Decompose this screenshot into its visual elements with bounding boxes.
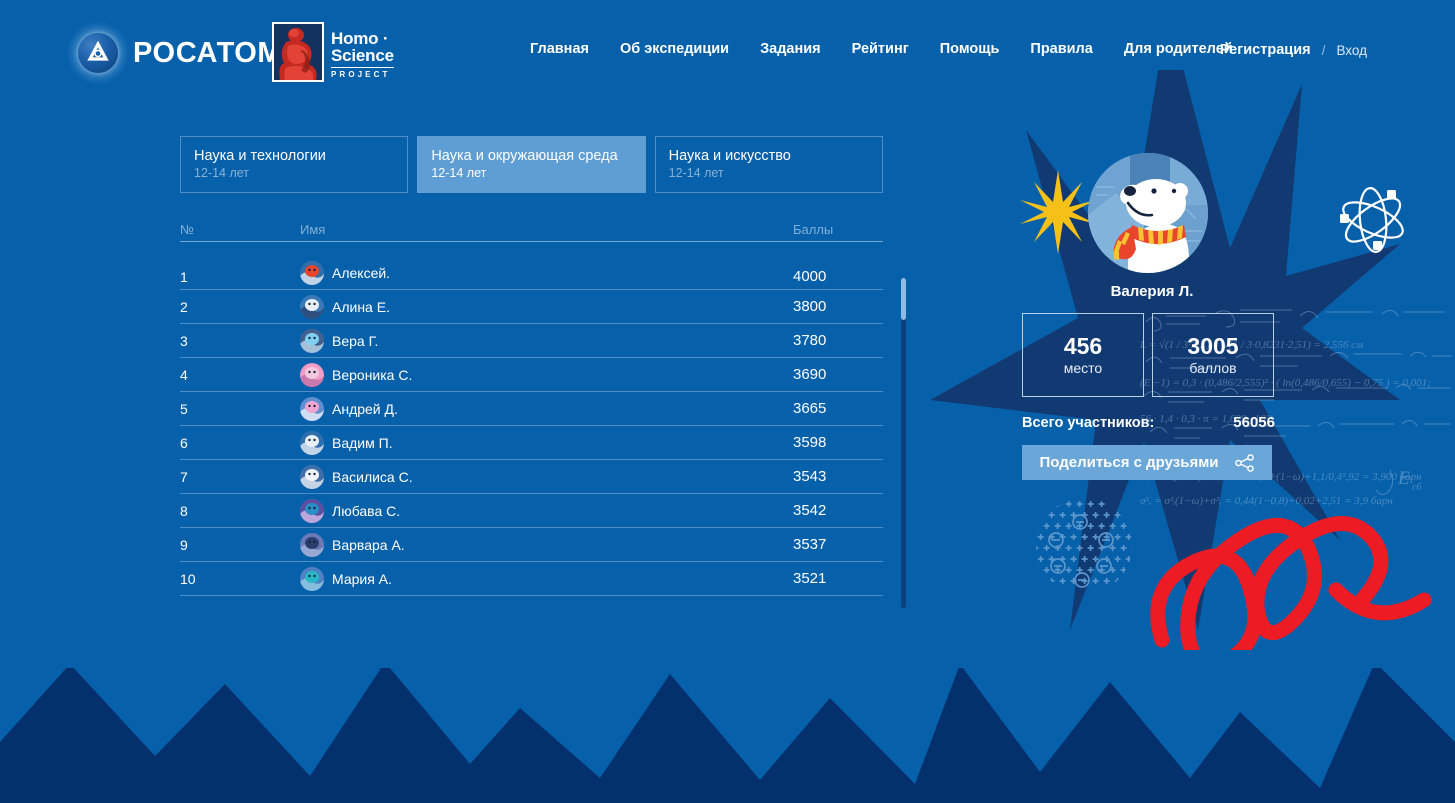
nav-item-parents[interactable]: Для родителей — [1124, 41, 1233, 57]
row-rank: 1 — [180, 269, 300, 285]
user-avatar-icon — [300, 329, 324, 353]
row-rank: 2 — [180, 299, 300, 315]
table-header-row: № Имя Баллы — [180, 218, 883, 242]
row-score: 4000 — [793, 268, 883, 285]
nav-item-rules[interactable]: Правила — [1030, 41, 1092, 57]
column-header-score: Баллы — [793, 222, 883, 237]
row-score: 3521 — [793, 570, 883, 587]
row-rank: 5 — [180, 401, 300, 417]
stat-rank: 456 место — [1022, 313, 1144, 397]
auth-links: Регистрация / Вход — [1220, 42, 1367, 58]
column-header-rank: № — [180, 222, 300, 237]
row-score: 3598 — [793, 434, 883, 451]
row-score: 3665 — [793, 400, 883, 417]
svg-text:сб: сб — [1412, 482, 1422, 493]
rosatom-wordmark: РОСАТОМ — [133, 37, 282, 70]
auth-separator: / — [1322, 42, 1326, 58]
row-user-name: Мария А. — [332, 571, 392, 587]
row-rank: 10 — [180, 571, 300, 587]
row-user-name: Алина Е. — [332, 299, 390, 315]
user-avatar-icon — [300, 397, 324, 421]
row-rank: 8 — [180, 503, 300, 519]
page-root: L = √(1 / 3·Z·Σ) = √(1 / 3·0,8231·2,51) … — [0, 0, 1455, 803]
nav-item-expedition[interactable]: Об экспедиции — [620, 41, 729, 57]
row-score: 3537 — [793, 536, 883, 553]
table-row[interactable]: 2Алина Е.3800 — [180, 290, 883, 324]
row-score: 3690 — [793, 366, 883, 383]
tab-title: Наука и окружающая среда — [431, 147, 644, 165]
tab-title: Наука и технологии — [194, 147, 407, 165]
table-row[interactable]: 10Мария А.3521 — [180, 562, 883, 596]
row-name-cell: Вера Г. — [300, 329, 793, 353]
row-user-name: Любава С. — [332, 503, 400, 519]
row-rank: 9 — [180, 537, 300, 553]
table-row[interactable]: 9Варвара А.3537 — [180, 528, 883, 562]
homo-line-2: Science — [331, 47, 394, 64]
table-row[interactable]: 3Вера Г.3780 — [180, 324, 883, 358]
row-user-name: Андрей Д. — [332, 401, 398, 417]
stat-points: 3005 баллов — [1152, 313, 1274, 397]
category-tabs: Наука и технологии 12-14 лет Наука и окр… — [180, 136, 883, 193]
row-user-name: Василиса С. — [332, 469, 413, 485]
table-row[interactable]: 1Алексей.4000 — [180, 242, 883, 290]
user-avatar-icon — [300, 363, 324, 387]
tab-age-range: 12-14 лет — [669, 165, 882, 182]
login-link[interactable]: Вход — [1336, 43, 1367, 58]
row-score: 3780 — [793, 332, 883, 349]
svg-text:E: E — [1397, 468, 1410, 489]
row-name-cell: Вадим П. — [300, 431, 793, 455]
tab-age-range: 12-14 лет — [431, 165, 644, 182]
rosatom-trefoil-icon — [86, 41, 110, 65]
user-avatar-icon — [300, 261, 324, 285]
row-name-cell: Алина Е. — [300, 295, 793, 319]
column-header-name: Имя — [300, 222, 793, 237]
total-participants-value: 56056 — [1233, 414, 1275, 431]
row-score: 3543 — [793, 468, 883, 485]
share-icon — [1235, 454, 1255, 472]
row-name-cell: Любава С. — [300, 499, 793, 523]
row-rank: 4 — [180, 367, 300, 383]
homo-science-logo[interactable]: Homo · Science PROJECT — [272, 22, 382, 86]
tab-science-and-technology[interactable]: Наука и технологии 12-14 лет — [180, 136, 408, 193]
nav-item-help[interactable]: Помощь — [940, 41, 1000, 57]
row-name-cell: Андрей Д. — [300, 397, 793, 421]
row-name-cell: Вероника С. — [300, 363, 793, 387]
total-participants-row: Всего участников: 56056 — [1022, 414, 1275, 431]
user-avatar-icon — [300, 567, 324, 591]
user-avatar-icon — [300, 499, 324, 523]
table-row[interactable]: 5Андрей Д.3665 — [180, 392, 883, 426]
stat-rank-label: место — [1064, 359, 1102, 377]
table-row[interactable]: 6Вадим П.3598 — [180, 426, 883, 460]
row-rank: 7 — [180, 469, 300, 485]
mountain-silhouette-decoration — [0, 668, 1455, 803]
user-avatar-icon — [300, 295, 324, 319]
site-header: РОСАТОМ — [0, 0, 1455, 105]
share-with-friends-button[interactable]: Поделиться с друзьями — [1022, 445, 1272, 480]
row-name-cell: Василиса С. — [300, 465, 793, 489]
homo-divider — [331, 67, 394, 68]
table-row[interactable]: 8Любава С.3542 — [180, 494, 883, 528]
homo-science-wordmark: Homo · Science PROJECT — [331, 22, 394, 86]
row-name-cell: Алексей. — [300, 261, 793, 285]
nav-item-tasks[interactable]: Задания — [760, 41, 821, 57]
table-row[interactable]: 7Василиса С.3543 — [180, 460, 883, 494]
stat-rank-value: 456 — [1064, 333, 1102, 359]
thinker-statue-icon — [272, 22, 324, 82]
homo-line-3: PROJECT — [331, 70, 394, 79]
profile-stats: 456 место 3005 баллов — [1022, 313, 1282, 397]
row-user-name: Вадим П. — [332, 435, 393, 451]
plasma-dots-icon — [1022, 496, 1147, 596]
row-score: 3800 — [793, 298, 883, 315]
row-rank: 3 — [180, 333, 300, 349]
nav-item-home[interactable]: Главная — [530, 41, 589, 57]
leaderboard-section: Наука и технологии 12-14 лет Наука и окр… — [180, 136, 883, 596]
rosatom-logo-mark — [72, 27, 124, 79]
row-user-name: Вероника С. — [332, 367, 412, 383]
user-avatar-icon — [300, 431, 324, 455]
nav-item-rating[interactable]: Рейтинг — [852, 41, 909, 57]
row-name-cell: Варвара А. — [300, 533, 793, 557]
register-link[interactable]: Регистрация — [1220, 42, 1311, 58]
tab-science-and-art[interactable]: Наука и искусство 12-14 лет — [655, 136, 883, 193]
row-name-cell: Мария А. — [300, 567, 793, 591]
user-avatar-icon — [300, 533, 324, 557]
rosatom-logo[interactable]: РОСАТОМ — [72, 24, 252, 82]
user-profile-panel: Валерия Л. 456 место 3005 баллов Всего у… — [1022, 283, 1282, 480]
total-participants-label: Всего участников: — [1022, 415, 1154, 431]
tab-science-and-environment[interactable]: Наука и окружающая среда 12-14 лет — [417, 136, 645, 193]
row-user-name: Вера Г. — [332, 333, 378, 349]
main-navigation: Главная Об экспедиции Задания Рейтинг По… — [530, 41, 1233, 57]
table-row[interactable]: 4Вероника С.3690 — [180, 358, 883, 392]
atom-icon — [1325, 172, 1421, 268]
row-rank: 6 — [180, 435, 300, 451]
share-button-label: Поделиться с друзьями — [1039, 454, 1218, 471]
homo-line-1: Homo · — [331, 30, 394, 47]
row-score: 3542 — [793, 502, 883, 519]
tab-title: Наука и искусство — [669, 147, 882, 165]
row-user-name: Варвара А. — [332, 537, 405, 553]
table-scrollbar[interactable] — [901, 278, 906, 608]
svg-text:σ²ₑ = σ²ᵢ(1−ω)+σ²ᵣ = 0,44(1−0,: σ²ₑ = σ²ᵢ(1−ω)+σ²ᵣ = 0,44(1−0,8)+0,02+2,… — [1140, 495, 1393, 507]
stat-points-value: 3005 — [1187, 333, 1238, 359]
stat-points-label: баллов — [1189, 359, 1236, 377]
yellow-star-icon — [1020, 170, 1096, 254]
user-avatar-icon — [300, 465, 324, 489]
row-user-name: Алексей. — [332, 265, 390, 281]
tab-age-range: 12-14 лет — [194, 165, 407, 182]
table-scrollbar-thumb[interactable] — [901, 278, 906, 320]
mascot-avatar — [1088, 153, 1208, 273]
leaderboard-table: № Имя Баллы 1Алексей.40002Алина Е.38003В… — [180, 218, 883, 596]
table-body: 1Алексей.40002Алина Е.38003Вера Г.37804В… — [180, 242, 883, 596]
profile-user-name: Валерия Л. — [1022, 283, 1282, 300]
